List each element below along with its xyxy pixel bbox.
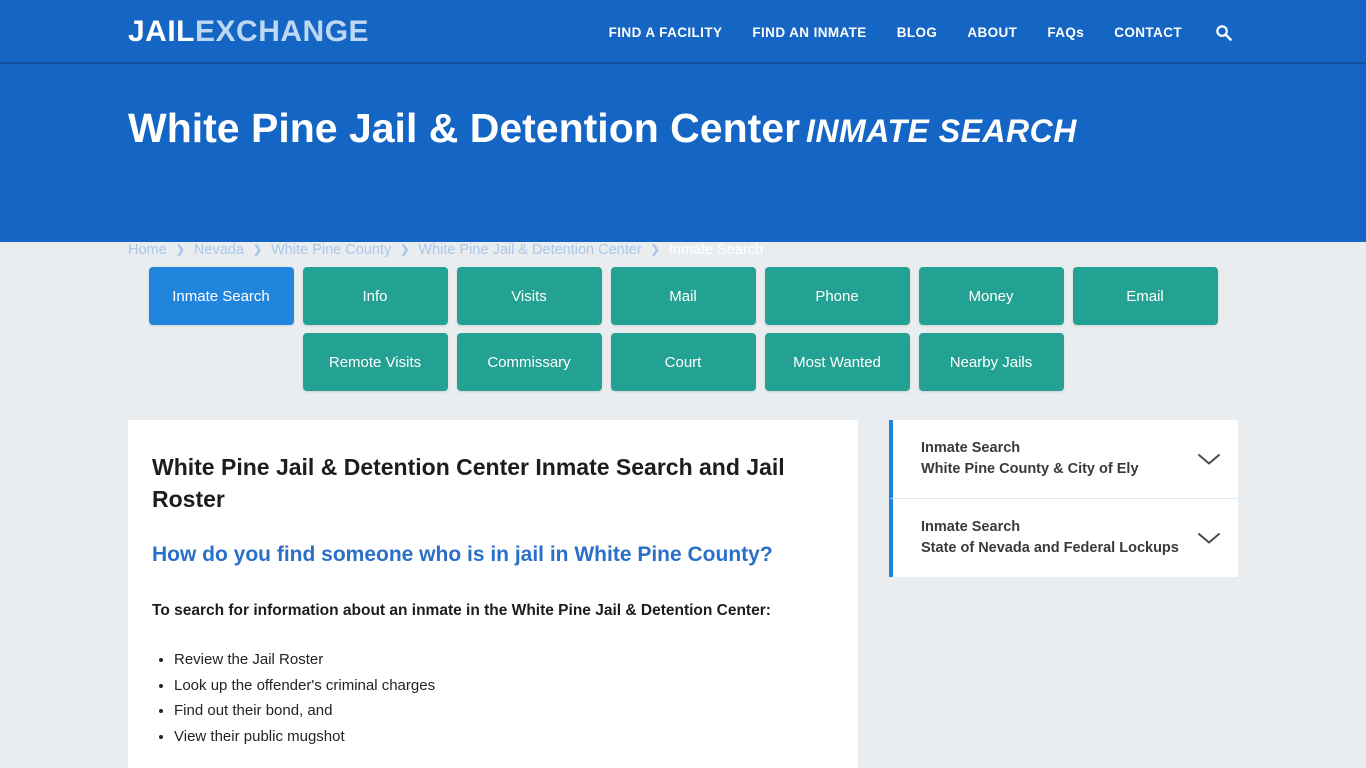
nav-item-faqs[interactable]: FAQs <box>1032 25 1099 40</box>
tab-email[interactable]: Email <box>1073 267 1218 325</box>
nav-item-find-a-facility[interactable]: FIND A FACILITY <box>594 25 738 40</box>
tab-most-wanted[interactable]: Most Wanted <box>765 333 910 391</box>
breadcrumb-item-home[interactable]: Home <box>128 242 167 258</box>
site-logo[interactable]: JAILEXCHANGE <box>128 17 369 47</box>
accordion-label: Inmate Search White Pine County & City o… <box>921 438 1139 480</box>
chevron-down-icon[interactable] <box>1186 530 1222 546</box>
tab-commissary[interactable]: Commissary <box>457 333 602 391</box>
tab-row-primary: Inmate Search Info Visits Mail Phone Mon… <box>0 267 1366 325</box>
accordion-title: Inmate Search <box>921 438 1139 459</box>
content-intro-paragraph: To search for information about an inmat… <box>152 599 834 623</box>
content-area: White Pine Jail & Detention Center Inmat… <box>0 399 1366 768</box>
list-item: View their public mugshot <box>174 724 834 750</box>
tab-info[interactable]: Info <box>303 267 448 325</box>
tab-court[interactable]: Court <box>611 333 756 391</box>
breadcrumb-item-current: Inmate Search <box>669 242 763 258</box>
list-item: Review the Jail Roster <box>174 647 834 673</box>
page-title-facility: White Pine Jail & Detention Center <box>128 105 800 151</box>
tab-mail[interactable]: Mail <box>611 267 756 325</box>
breadcrumb-separator-icon: ❯ <box>400 243 409 256</box>
tab-row-secondary: Remote Visits Commissary Court Most Want… <box>0 333 1366 391</box>
page-title: White Pine Jail & Detention CenterINMATE… <box>128 106 1077 151</box>
chevron-down-icon[interactable] <box>1186 451 1222 467</box>
tab-visits[interactable]: Visits <box>457 267 602 325</box>
breadcrumb-item-nevada[interactable]: Nevada <box>194 242 244 258</box>
nav-item-blog[interactable]: BLOG <box>882 25 953 40</box>
tab-inmate-search[interactable]: Inmate Search <box>149 267 294 325</box>
nav-item-find-an-inmate[interactable]: FIND AN INMATE <box>737 25 881 40</box>
list-item: Find out their bond, and <box>174 698 834 724</box>
breadcrumb-separator-icon: ❯ <box>176 243 185 256</box>
tab-phone[interactable]: Phone <box>765 267 910 325</box>
instruction-list: Review the Jail Roster Look up the offen… <box>152 647 834 750</box>
search-icon[interactable] <box>1197 24 1238 41</box>
accordion-subtitle: White Pine County & City of Ely <box>921 459 1139 480</box>
breadcrumb-separator-icon: ❯ <box>651 243 660 256</box>
accordion-item-inmate-search-county[interactable]: Inmate Search White Pine County & City o… <box>889 420 1238 499</box>
nav-item-contact[interactable]: CONTACT <box>1099 25 1197 40</box>
sidebar: Inmate Search White Pine County & City o… <box>889 420 1238 577</box>
accordion-item-inmate-search-state[interactable]: Inmate Search State of Nevada and Federa… <box>889 499 1238 577</box>
content-heading: White Pine Jail & Detention Center Inmat… <box>152 452 834 515</box>
accordion-title: Inmate Search <box>921 517 1179 538</box>
logo-text-primary: JAIL <box>128 15 195 48</box>
content-subheading: How do you find someone who is in jail i… <box>152 541 834 568</box>
tab-remote-visits[interactable]: Remote Visits <box>303 333 448 391</box>
facility-tab-nav: Inmate Search Info Visits Mail Phone Mon… <box>0 242 1366 391</box>
breadcrumb-item-facility[interactable]: White Pine Jail & Detention Center <box>418 242 641 258</box>
breadcrumb-separator-icon: ❯ <box>253 243 262 256</box>
main-menu: FIND A FACILITY FIND AN INMATE BLOG ABOU… <box>594 0 1238 64</box>
nav-item-about[interactable]: ABOUT <box>952 25 1032 40</box>
top-navigation-bar: JAILEXCHANGE FIND A FACILITY FIND AN INM… <box>0 0 1366 64</box>
tab-money[interactable]: Money <box>919 267 1064 325</box>
main-content-card: White Pine Jail & Detention Center Inmat… <box>128 420 858 768</box>
page-title-section: INMATE SEARCH <box>806 113 1077 149</box>
tab-nearby-jails[interactable]: Nearby Jails <box>919 333 1064 391</box>
hero-banner: White Pine Jail & Detention CenterINMATE… <box>0 64 1366 242</box>
logo-text-secondary: EXCHANGE <box>195 15 369 48</box>
breadcrumb-item-white-pine-county[interactable]: White Pine County <box>271 242 391 258</box>
accordion-subtitle: State of Nevada and Federal Lockups <box>921 538 1179 559</box>
breadcrumb: Home ❯ Nevada ❯ White Pine County ❯ Whit… <box>128 242 763 258</box>
list-item: Look up the offender's criminal charges <box>174 673 834 699</box>
accordion-label: Inmate Search State of Nevada and Federa… <box>921 517 1179 559</box>
